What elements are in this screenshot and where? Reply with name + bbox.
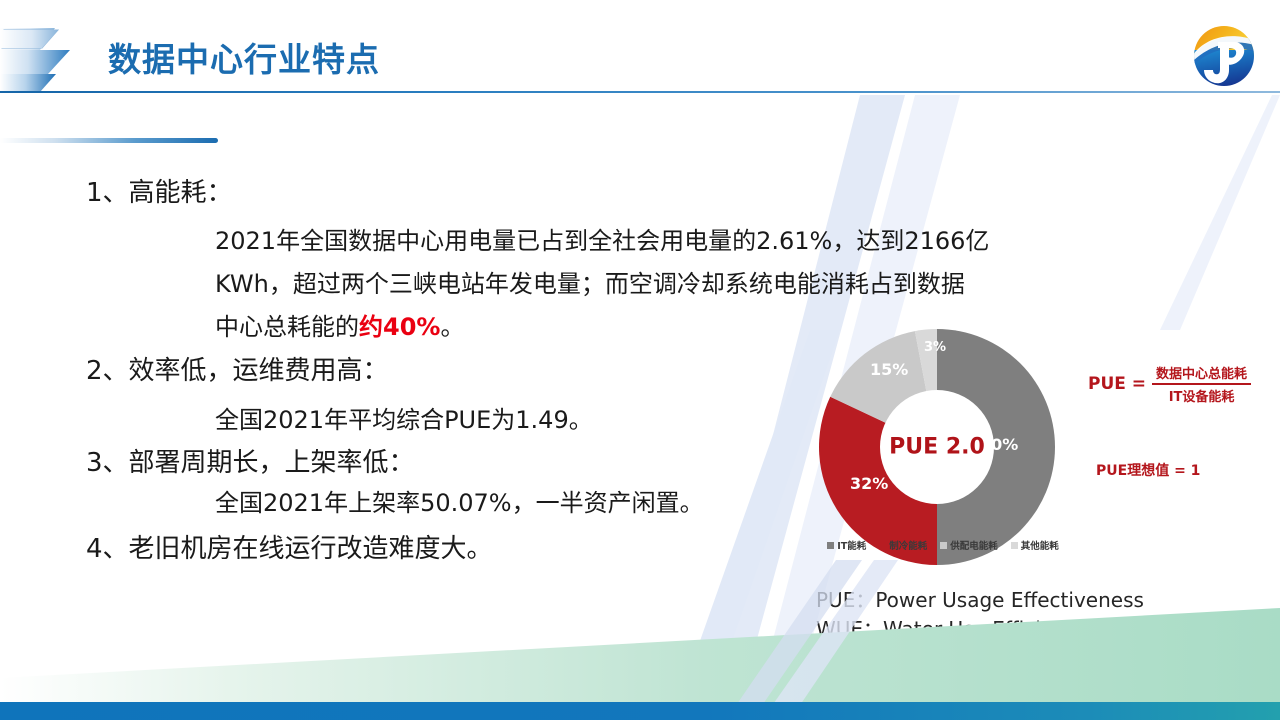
bullet-1-marker: 1、 xyxy=(86,178,129,208)
bullet-1-heading: 高能耗： xyxy=(129,178,233,208)
pue-ideal-value: PUE理想值 = 1 xyxy=(1096,460,1200,480)
bullet-2-line-1: 全国2021年平均综合PUE为1.49。 xyxy=(215,400,593,435)
slide-canvas: 数据中心行业特点 1、高能耗： xyxy=(0,0,1280,720)
bullet-2: 2、效率低，运维费用高： xyxy=(86,350,389,387)
bullet-1-line-3: 中心总耗能的约40%。 xyxy=(215,307,464,342)
note-pue: PUE：Power Usage Effectiveness xyxy=(816,586,1144,615)
acronym-notes: PUE：Power Usage Effectiveness WUE：Water … xyxy=(816,586,1144,644)
note-wue: WUE：Water Use Efficiency xyxy=(816,615,1144,644)
pue-formula-lhs: PUE = xyxy=(1088,374,1146,394)
bullet-3-marker: 3、 xyxy=(86,448,129,478)
legend-swatch-power xyxy=(940,542,947,549)
legend-item-it: IT能耗 xyxy=(827,538,866,552)
bullet-1-line-1: 2021年全国数据中心用电量已占到全社会用电量的2.61%，达到2166亿 xyxy=(215,221,989,256)
legend-label-power: 供配电能耗 xyxy=(950,538,998,552)
donut-label-cooling: 32% xyxy=(850,474,888,493)
donut-label-power: 15% xyxy=(870,360,908,379)
legend-swatch-it xyxy=(827,542,834,549)
pue-formula-fraction: 数据中心总能耗 IT设备能耗 xyxy=(1152,362,1251,406)
donut-label-other: 3% xyxy=(924,340,946,355)
bullet-1-line-3-part-a: 中心总耗能的 xyxy=(215,313,359,341)
bullet-3: 3、部署周期长，上架率低： xyxy=(86,442,415,479)
bullet-1-line-3-part-c: 。 xyxy=(440,313,464,341)
pue-formula-denominator: IT设备能耗 xyxy=(1165,385,1239,406)
pue-formula-numerator: 数据中心总能耗 xyxy=(1152,362,1251,383)
bullet-1: 1、高能耗： xyxy=(86,172,233,209)
bullet-4-heading: 老旧机房在线运行改造难度大。 xyxy=(129,534,493,564)
bullet-2-marker: 2、 xyxy=(86,356,129,386)
legend-swatch-cooling xyxy=(879,542,886,549)
legend-item-power: 供配电能耗 xyxy=(940,538,998,552)
bullet-4: 4、老旧机房在线运行改造难度大。 xyxy=(86,528,493,565)
bullet-3-heading: 部署周期长，上架率低： xyxy=(129,448,415,478)
donut-label-it: 50% xyxy=(980,435,1018,454)
legend-item-cooling: 制冷能耗 xyxy=(879,538,927,552)
legend-label-cooling: 制冷能耗 xyxy=(889,538,927,552)
pue-donut-chart: 50% 32% 15% 3% PUE 2.0 xyxy=(812,322,1062,572)
donut-center-label: PUE 2.0 xyxy=(889,435,985,460)
pue-formula: PUE = 数据中心总能耗 IT设备能耗 xyxy=(1088,362,1251,406)
chart-legend: IT能耗 制冷能耗 供配电能耗 其他能耗 xyxy=(808,538,1078,552)
legend-label-it: IT能耗 xyxy=(837,538,866,552)
footer-bar xyxy=(0,702,1280,720)
bullet-1-line-2: KWh，超过两个三峡电站年发电量；而空调冷却系统电能消耗占到数据 xyxy=(215,264,965,299)
legend-label-other: 其他能耗 xyxy=(1021,538,1059,552)
legend-item-other: 其他能耗 xyxy=(1011,538,1059,552)
bullet-4-marker: 4、 xyxy=(86,534,129,564)
bullet-1-highlight-percent: 约40% xyxy=(359,313,440,341)
legend-swatch-other xyxy=(1011,542,1018,549)
bullet-2-heading: 效率低，运维费用高： xyxy=(129,356,389,386)
bullet-3-line-1: 全国2021年上架率50.07%，一半资产闲置。 xyxy=(215,483,704,518)
